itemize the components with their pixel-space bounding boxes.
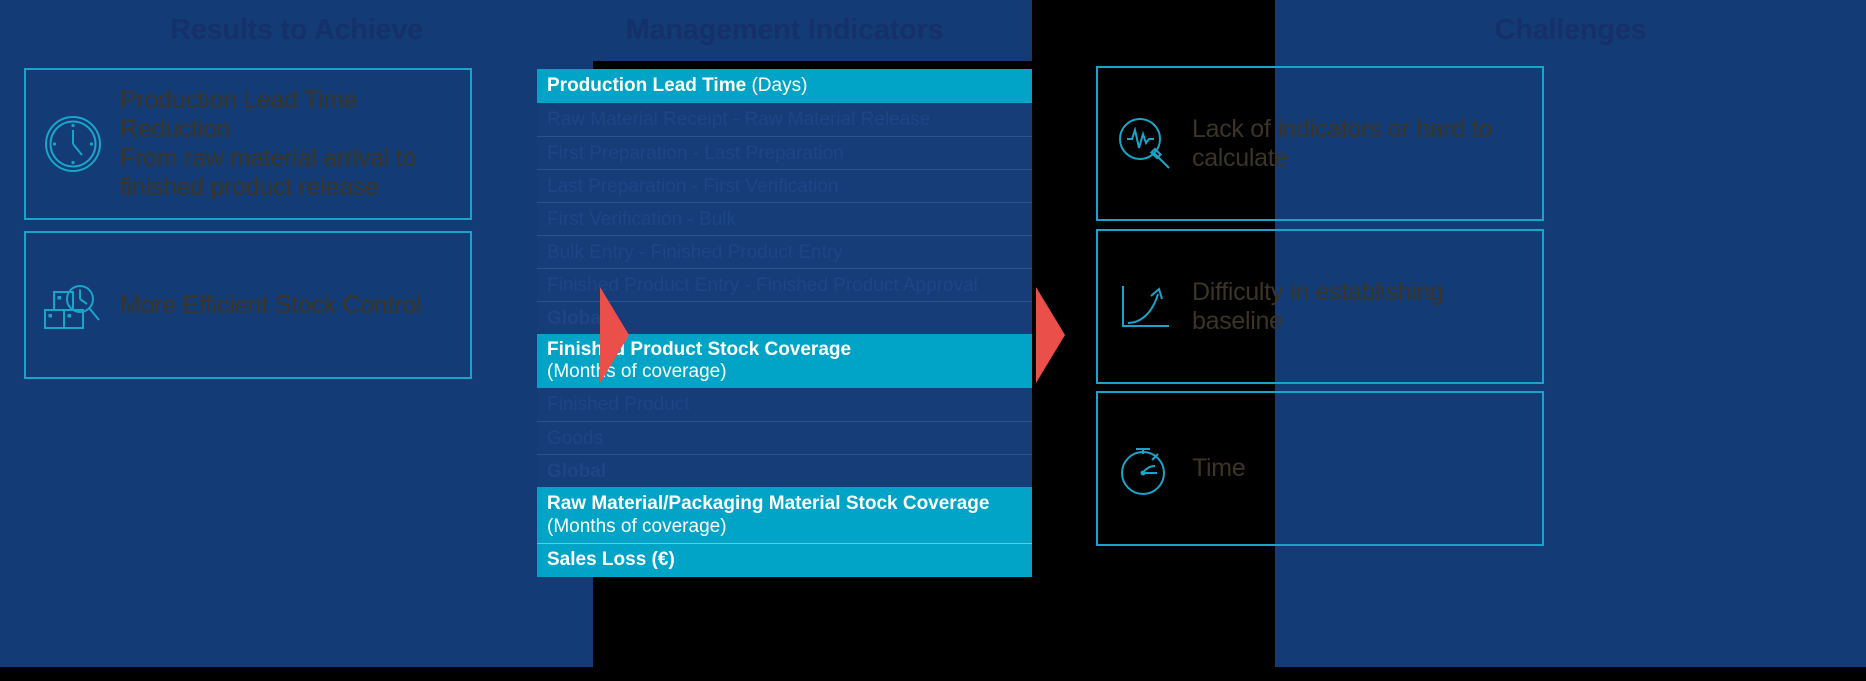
indicator-row[interactable]: Last Preparation - First Verification: [537, 169, 1032, 202]
indicator-header-title: Production Lead Time: [547, 75, 746, 97]
right-panel-title: Challenges: [1275, 16, 1866, 45]
card-title: More Efficient Stock Control: [120, 291, 421, 319]
card-subtitle-line-1: calculate: [1192, 144, 1530, 173]
card-subtitle-line-2: finished product release: [120, 173, 458, 202]
growth-chart-icon: [1112, 274, 1178, 340]
card-title: Lack of indicators or hard to: [1192, 115, 1492, 143]
card-text-block: Production Lead Time Reduction From raw …: [120, 86, 470, 202]
indicator-header-unit: (Days): [751, 75, 807, 97]
indicator-row[interactable]: Goods: [537, 421, 1032, 454]
indicator-section-header[interactable]: Production Lead Time (Days): [537, 69, 1032, 103]
indicator-section-header[interactable]: Sales Loss (€): [537, 543, 1032, 577]
indicator-row-global[interactable]: Global: [537, 454, 1032, 487]
stopwatch-icon: [1112, 436, 1178, 502]
indicator-header-unit: (Months of coverage): [547, 516, 1032, 538]
indicator-header-title: Sales Loss (€): [547, 549, 675, 571]
indicator-header-title: Finished Product Stock Coverage: [547, 339, 851, 361]
arrow-center-to-right: [1036, 287, 1065, 383]
card-title: Difficulty in establishing baseline: [1192, 278, 1444, 335]
pulse-magnifier-icon: [1112, 111, 1178, 177]
card-production-lead-time-reduction[interactable]: Production Lead Time Reduction From raw …: [24, 68, 472, 220]
card-text-block: Difficulty in establishing baseline: [1192, 278, 1542, 336]
center-panel-title: Management Indicators: [537, 16, 1032, 45]
left-panel-title: Results to Achieve: [0, 16, 593, 45]
card-more-efficient-stock-control[interactable]: More Efficient Stock Control: [24, 231, 472, 379]
indicator-row[interactable]: Raw Material Receipt - Raw Material Rele…: [537, 103, 1032, 136]
card-difficulty-establishing-baseline[interactable]: Difficulty in establishing baseline: [1096, 229, 1544, 384]
card-text-block: Time: [1192, 454, 1542, 483]
card-text-block: More Efficient Stock Control: [120, 291, 470, 320]
card-title: Time: [1192, 454, 1245, 482]
card-time[interactable]: Time: [1096, 391, 1544, 546]
management-indicators-title-panel: Management Indicators: [537, 0, 1032, 61]
indicator-row[interactable]: Bulk Entry - Finished Product Entry: [537, 235, 1032, 268]
boxes-magnifier-icon: [40, 272, 106, 338]
clock-icon: [40, 111, 106, 177]
card-lack-of-indicators[interactable]: Lack of indicators or hard to calculate: [1096, 66, 1544, 221]
indicator-section-header[interactable]: Raw Material/Packaging Material Stock Co…: [537, 487, 1032, 542]
indicator-row[interactable]: First Verification - Bulk: [537, 202, 1032, 235]
indicator-header-title: Raw Material/Packaging Material Stock Co…: [547, 493, 989, 514]
indicator-row[interactable]: Finished Product: [537, 388, 1032, 421]
card-text-block: Lack of indicators or hard to calculate: [1192, 115, 1542, 173]
card-subtitle-line-1: From raw material arrival to: [120, 144, 458, 173]
card-title: Production Lead Time Reduction: [120, 86, 357, 143]
results-to-achieve-panel: Results to Achieve Production Lead Time …: [0, 0, 593, 667]
indicator-row[interactable]: First Preparation - Last Preparation: [537, 136, 1032, 169]
arrow-left-to-center: [600, 287, 629, 383]
indicator-header-unit: (Months of coverage): [547, 361, 727, 383]
